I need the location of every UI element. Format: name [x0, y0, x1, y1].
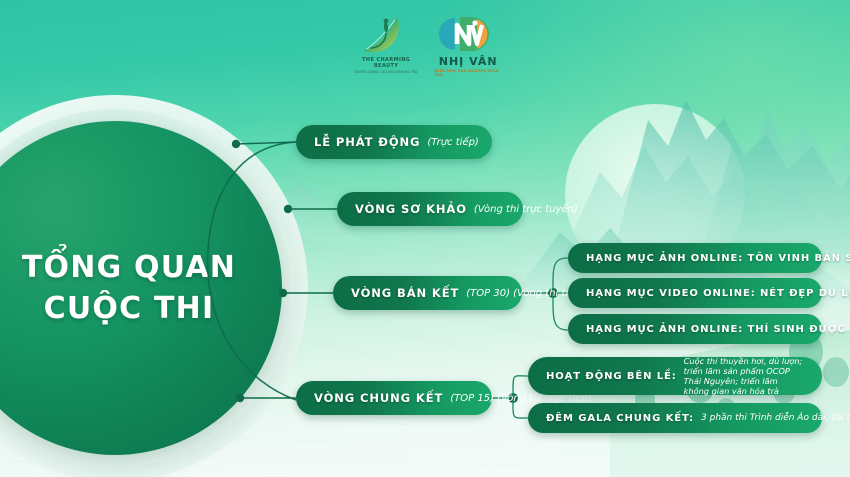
stage-pill-le-phat-dong[interactable]: LỄ PHÁT ĐỘNG (Trực tiếp) [296, 125, 492, 159]
logo1-subtitle: DUYÊN DÁNG CAO NGUYÊN ĐÁ TRÀ [355, 70, 417, 74]
stage-title-vong-ban-ket: VÒNG BÁN KẾT [351, 286, 459, 300]
nhi-van-monogram-icon [439, 14, 497, 54]
center-title-text: TỔNG QUAN CUỘC THI [0, 249, 279, 328]
subitem-title-dem-gala-chung-ket: ĐÊM GALA CHUNG KẾT: [546, 413, 694, 424]
center-title-line-2: CUỘC THI [0, 290, 279, 328]
subitem-note-hoat-dong-ben-le: Cuộc thi thuyền hơi, dù lượn; triển lãm … [684, 356, 804, 396]
center-title-line-1: TỔNG QUAN [0, 249, 279, 287]
subitem-note-dem-gala-chung-ket: 3 phần thi Trình diễn Áo dài, Tài năng, … [701, 413, 850, 423]
logo1-name: THE CHARMING BEAUTY [352, 57, 420, 69]
stage-pill-vong-ban-ket[interactable]: VÒNG BÁN KẾT (TOP 30) (Vòng thi trực tuy… [333, 276, 522, 310]
stage-pill-vong-chung-ket[interactable]: VÒNG CHUNG KẾT (TOP 15) (Vòng thi trực t… [296, 381, 492, 415]
stage-note-le-phat-dong: (Trực tiếp) [427, 137, 478, 148]
logo2-subtitle: MIỀN NHỚ CAO NGUYÊN MIỀN TRÀ [434, 69, 502, 77]
subitem-pill-hoat-dong-ben-le[interactable]: HOẠT ĐỘNG BÊN LỀ: Cuộc thi thuyền hơi, d… [528, 357, 822, 395]
logo-row: THE CHARMING BEAUTY DUYÊN DÁNG CAO NGUYÊ… [352, 14, 502, 76]
subitem-pill-hang-muc-video-du-lich[interactable]: HẠNG MỤC VIDEO ONLINE: NÉT ĐẸP DU LỊCH [568, 278, 822, 308]
subitem-pill-hang-muc-anh-ban-sac[interactable]: HẠNG MỤC ẢNH ONLINE: TÔN VINH BẢN SẮC QU… [568, 243, 822, 273]
subitem-pill-dem-gala-chung-ket[interactable]: ĐÊM GALA CHUNG KẾT: 3 phần thi Trình diễ… [528, 403, 822, 433]
subitem-title-hang-muc-anh-ban-sac: HẠNG MỤC ẢNH ONLINE: TÔN VINH BẢN SẮC QU… [586, 253, 850, 264]
stage-pill-vong-so-khao[interactable]: VÒNG SƠ KHẢO (Vòng thi trực tuyến) [337, 192, 523, 226]
stage-title-vong-chung-ket: VÒNG CHUNG KẾT [314, 391, 443, 405]
infographic-canvas: TỔNG QUAN CUỘC THI [0, 0, 850, 477]
stage-title-le-phat-dong: LỄ PHÁT ĐỘNG [314, 135, 420, 149]
logo-the-charming-beauty: THE CHARMING BEAUTY DUYÊN DÁNG CAO NGUYÊ… [352, 14, 420, 74]
subitem-title-hang-muc-video-du-lich: HẠNG MỤC VIDEO ONLINE: NÉT ĐẸP DU LỊCH [586, 288, 850, 299]
subitem-title-hang-muc-anh-yeu-thich: HẠNG MỤC ẢNH ONLINE: THÍ SINH ĐƯỢC YÊU T… [586, 324, 850, 335]
logo-nhi-van: NHỊ VÂN MIỀN NHỚ CAO NGUYÊN MIỀN TRÀ [434, 14, 502, 77]
subitem-pill-hang-muc-anh-yeu-thich[interactable]: HẠNG MỤC ẢNH ONLINE: THÍ SINH ĐƯỢC YÊU T… [568, 314, 822, 344]
charming-beauty-emblem-icon [357, 14, 415, 56]
logo2-name: NHỊ VÂN [439, 55, 498, 68]
stage-note-vong-so-khao: (Vòng thi trực tuyến) [474, 204, 578, 215]
stage-title-vong-so-khao: VÒNG SƠ KHẢO [355, 202, 467, 216]
subitem-title-hoat-dong-ben-le: HOẠT ĐỘNG BÊN LỀ: [546, 371, 677, 382]
